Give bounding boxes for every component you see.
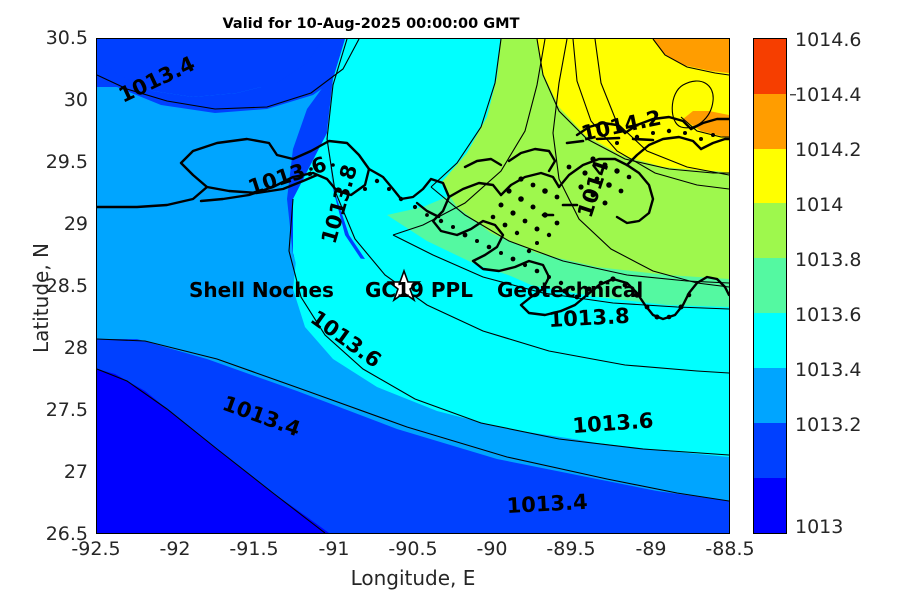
x-tick: -89 <box>635 538 666 560</box>
contour-map-plot[interactable]: 1013.4 1013.6 1013.8 1014.2 1014 1013.8 … <box>96 38 730 534</box>
figure-title: Valid for 10-Aug-2025 00:00:00 GMT <box>0 16 742 32</box>
colorbar[interactable] <box>753 38 787 534</box>
station-label-gc19-ppl: GC19 PPL <box>365 278 473 302</box>
colorbar-segment-1014-6 <box>754 39 786 94</box>
y-tick: 30 <box>64 89 88 111</box>
x-tick: -92.5 <box>71 538 120 560</box>
colorbar-segment-1013-0 <box>754 478 786 533</box>
y-tick: 28 <box>64 337 88 359</box>
colorbar-tick: 1013.8 <box>795 249 861 271</box>
colorbar-segment-1013-2 <box>754 423 786 478</box>
colorbar-segment-1013-6 <box>754 313 786 368</box>
x-tick: -92 <box>159 538 190 560</box>
station-label-geotechnical: Geotechnical <box>497 278 643 302</box>
colorbar-segment-1014-0 <box>754 203 786 258</box>
figure-root: Valid for 10-Aug-2025 00:00:00 GMT <box>0 0 900 600</box>
y-tick: 29 <box>64 213 88 235</box>
x-tick: -90 <box>476 538 507 560</box>
x-tick: -88.5 <box>705 538 754 560</box>
colorbar-segment-1013-8 <box>754 258 786 313</box>
colorbar-ticks: 1014.6 1014.4 1014.2 1014 1013.8 1013.6 … <box>789 38 889 534</box>
colorbar-tick: 1013.6 <box>795 304 861 326</box>
colorbar-segment-1014-4 <box>754 94 786 149</box>
colorbar-tick: 1014 <box>795 194 843 216</box>
colorbar-tick: 1013.4 <box>795 359 861 381</box>
x-tick: -91 <box>318 538 349 560</box>
colorbar-segment-1014-2 <box>754 149 786 204</box>
x-axis-label: Longitude, E <box>96 566 730 590</box>
x-tick: -89.5 <box>546 538 595 560</box>
contour-map-svg: 1013.4 1013.6 1013.8 1014.2 1014 1013.8 … <box>97 39 729 533</box>
x-tick: -91.5 <box>229 538 278 560</box>
colorbar-tick: 1014.4 <box>795 84 861 106</box>
colorbar-tick: 1014.6 <box>795 29 861 51</box>
contour-label: 1013.4 <box>506 490 588 518</box>
y-axis-label: Latitude, N <box>29 158 53 438</box>
colorbar-tick: 1013.2 <box>795 414 861 436</box>
station-label-shell-noches: Shell Noches <box>189 278 334 302</box>
colorbar-tick: 1014.2 <box>795 139 861 161</box>
colorbar-segment-1013-4 <box>754 368 786 423</box>
colorbar-tick: 1013 <box>795 516 843 538</box>
y-tick: 30.5 <box>46 27 88 49</box>
x-axis-ticks: -92.5 -92 -91.5 -91 -90.5 -90 -89.5 -89 … <box>96 538 730 568</box>
contour-label: 1013.8 <box>548 304 630 332</box>
y-tick: 27 <box>64 461 88 483</box>
x-tick: -90.5 <box>388 538 437 560</box>
